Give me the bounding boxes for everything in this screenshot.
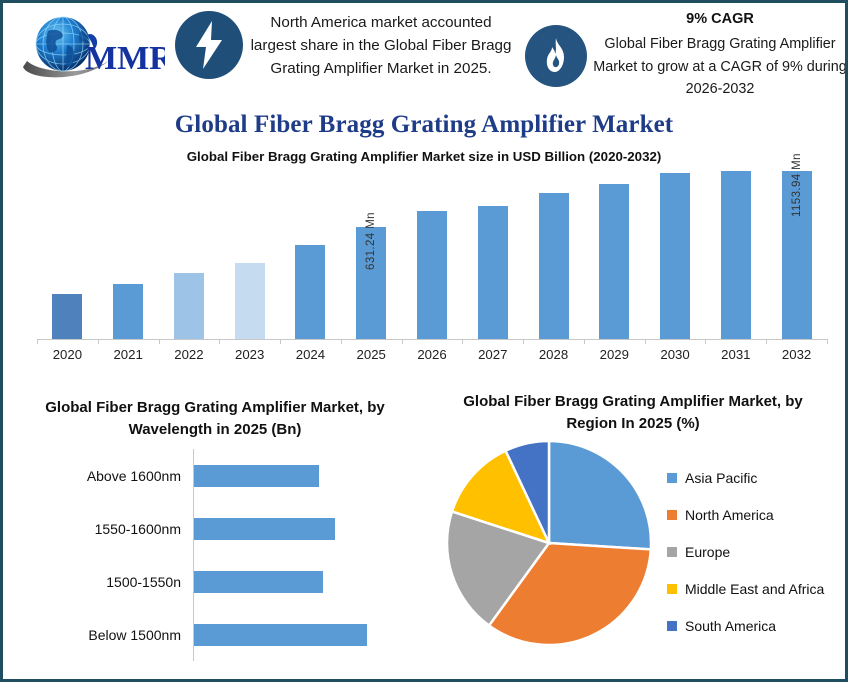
bar-column-2026 <box>417 171 447 339</box>
bar-2026 <box>417 211 447 339</box>
legend-item-europe: Europe <box>667 533 847 570</box>
bar-value-label-2032: 1153.94 Mn <box>791 153 803 217</box>
region-pie-legend: Asia PacificNorth AmericaEuropeMiddle Ea… <box>667 459 847 644</box>
wavelength-bar-4 <box>194 624 367 646</box>
x-axis-label-2024: 2024 <box>280 347 341 362</box>
legend-label: North America <box>685 507 774 523</box>
axis-tick <box>462 339 463 344</box>
bar-column-2029 <box>599 171 629 339</box>
x-axis-label-2027: 2027 <box>462 347 523 362</box>
bar-2021 <box>113 284 143 339</box>
cagr-heading: 9% CAGR <box>595 11 845 27</box>
legend-swatch-icon <box>667 547 677 557</box>
x-axis-label-2022: 2022 <box>159 347 220 362</box>
legend-label: Europe <box>685 544 730 560</box>
market-size-chart-title: Global Fiber Bragg Grating Amplifier Mar… <box>3 149 845 164</box>
lightning-bolt-badge <box>175 11 243 79</box>
legend-item-north-america: North America <box>667 496 847 533</box>
axis-tick <box>219 339 220 344</box>
bar-column-2021 <box>113 171 143 339</box>
bar-2029 <box>599 184 629 339</box>
axis-tick <box>402 339 403 344</box>
pie-slice-asia-pacific <box>549 441 651 549</box>
bar-2024 <box>295 245 325 339</box>
legend-label: Asia Pacific <box>685 470 757 486</box>
bottom-section: Global Fiber Bragg Grating Amplifier Mar… <box>3 381 845 681</box>
bar-column-2032: 1153.94 Mn <box>782 171 812 339</box>
bar-value-label-2025: 631.24 Mn <box>365 212 377 270</box>
x-axis-label-2031: 2031 <box>705 347 766 362</box>
infographic-root: MMR North America market accounted large… <box>0 0 848 682</box>
wavelength-label-1: Above 1600nm <box>27 468 187 484</box>
header-callout-right: Global Fiber Bragg Grating Amplifier Mar… <box>593 33 847 101</box>
x-axis-label-2032: 2032 <box>766 347 827 362</box>
bar-column-2030 <box>660 171 690 339</box>
bar-2028 <box>539 193 569 339</box>
x-axis-label-2020: 2020 <box>37 347 98 362</box>
bar-2022 <box>174 273 204 339</box>
bar-2027 <box>478 206 508 339</box>
legend-swatch-icon <box>667 510 677 520</box>
region-pie-graphic <box>443 437 655 649</box>
bar-column-2028 <box>539 171 569 339</box>
bar-column-2023 <box>235 171 265 339</box>
wavelength-label-3: 1500-1550n <box>27 574 187 590</box>
x-axis-label-2021: 2021 <box>98 347 159 362</box>
wavelength-row: 1550-1600nm <box>27 502 403 555</box>
bar-2030 <box>660 173 690 339</box>
region-pie-chart: Global Fiber Bragg Grating Amplifier Mar… <box>423 381 843 673</box>
axis-tick <box>645 339 646 344</box>
x-axis-label-2025: 2025 <box>341 347 402 362</box>
market-size-axis-line <box>37 339 827 340</box>
wavelength-label-4: Below 1500nm <box>27 627 187 643</box>
mmr-logo-text: MMR <box>85 40 165 77</box>
x-axis-label-2023: 2023 <box>219 347 280 362</box>
axis-tick <box>98 339 99 344</box>
x-axis-label-2030: 2030 <box>645 347 706 362</box>
globe-icon: MMR <box>15 11 165 83</box>
header: MMR North America market accounted large… <box>3 3 845 113</box>
legend-item-south-america: South America <box>667 607 847 644</box>
legend-swatch-icon <box>667 621 677 631</box>
axis-tick <box>827 339 828 344</box>
mmr-logo: MMR <box>15 11 165 83</box>
bar-2020 <box>52 294 82 339</box>
wavelength-plot-area: Above 1600nm1550-1600nm1500-1550nBelow 1… <box>27 449 403 661</box>
wavelength-label-2: 1550-1600nm <box>27 521 187 537</box>
x-axis-label-2029: 2029 <box>584 347 645 362</box>
axis-tick <box>159 339 160 344</box>
wavelength-bar-3 <box>194 571 323 593</box>
bar-column-2022 <box>174 171 204 339</box>
market-size-plot-area: 631.24 Mn1153.94 Mn <box>37 171 827 339</box>
axis-tick <box>705 339 706 344</box>
axis-tick <box>280 339 281 344</box>
axis-tick <box>584 339 585 344</box>
flame-icon <box>544 38 568 74</box>
wavelength-bar-2 <box>194 518 335 540</box>
lightning-bolt-icon <box>193 21 225 69</box>
axis-tick <box>37 339 38 344</box>
bar-column-2027 <box>478 171 508 339</box>
legend-swatch-icon <box>667 584 677 594</box>
wavelength-row: Below 1500nm <box>27 608 403 661</box>
legend-item-middle-east-and-africa: Middle East and Africa <box>667 570 847 607</box>
wavelength-row: Above 1600nm <box>27 449 403 502</box>
x-axis-label-2028: 2028 <box>523 347 584 362</box>
axis-tick <box>523 339 524 344</box>
wavelength-row: 1500-1550n <box>27 555 403 608</box>
bar-column-2031 <box>721 171 751 339</box>
axis-tick <box>341 339 342 344</box>
bar-2032: 1153.94 Mn <box>782 171 812 339</box>
wavelength-chart-title: Global Fiber Bragg Grating Amplifier Mar… <box>33 397 397 441</box>
bar-column-2020 <box>52 171 82 339</box>
legend-label: Middle East and Africa <box>685 581 824 597</box>
legend-item-asia-pacific: Asia Pacific <box>667 459 847 496</box>
bar-2025: 631.24 Mn <box>356 227 386 339</box>
bar-column-2024 <box>295 171 325 339</box>
wavelength-bar-chart: Global Fiber Bragg Grating Amplifier Mar… <box>15 381 415 673</box>
page-title: Global Fiber Bragg Grating Amplifier Mar… <box>3 111 845 139</box>
legend-label: South America <box>685 618 776 634</box>
market-size-bar-chart: Global Fiber Bragg Grating Amplifier Mar… <box>3 149 845 371</box>
bar-column-2025: 631.24 Mn <box>356 171 386 339</box>
flame-badge <box>525 25 587 87</box>
header-callout-left: North America market accounted largest s… <box>247 11 515 80</box>
bar-2031 <box>721 171 751 339</box>
x-axis-label-2026: 2026 <box>402 347 463 362</box>
legend-swatch-icon <box>667 473 677 483</box>
wavelength-bar-1 <box>194 465 319 487</box>
axis-tick <box>766 339 767 344</box>
bar-2023 <box>235 263 265 339</box>
region-chart-title: Global Fiber Bragg Grating Amplifier Mar… <box>463 391 803 435</box>
